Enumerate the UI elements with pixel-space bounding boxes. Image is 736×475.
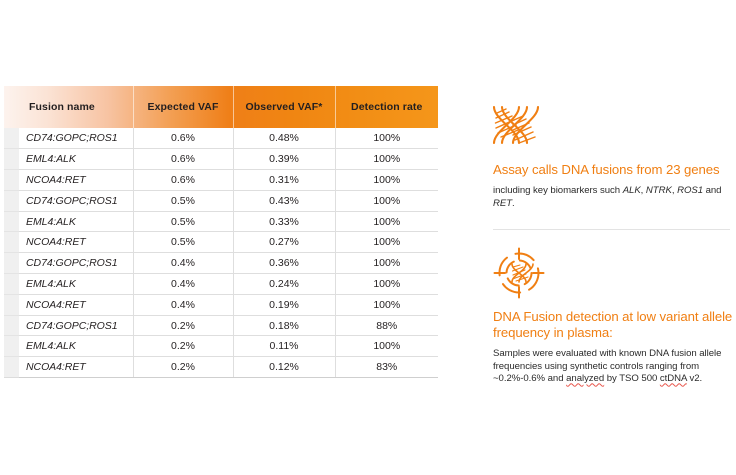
cell-expected-vaf: 0.2%: [133, 315, 233, 336]
panel-body-text: including key biomarkers such ALK, NTRK,…: [493, 185, 736, 210]
cell-detection-rate: 100%: [335, 294, 438, 315]
table-row: NCOA4:RET0.6%0.31%100%: [4, 170, 438, 191]
row-spacer-cell: [4, 211, 19, 232]
cell-expected-vaf: 0.5%: [133, 211, 233, 232]
panel-body-text: Samples were evaluated with known DNA fu…: [493, 348, 736, 386]
cell-fusion-name: EML4:ALK: [19, 211, 133, 232]
table-row: EML4:ALK0.4%0.24%100%: [4, 274, 438, 295]
cell-expected-vaf: 0.6%: [133, 149, 233, 170]
row-spacer-cell: [4, 274, 19, 295]
cell-observed-vaf: 0.12%: [233, 357, 335, 378]
cell-expected-vaf: 0.6%: [133, 128, 233, 149]
cell-fusion-name: CD74:GOPC;ROS1: [19, 253, 133, 274]
column-header-fusion-name: Fusion name: [19, 86, 133, 128]
table-row: NCOA4:RET0.2%0.12%83%: [4, 357, 438, 378]
table: Fusion name Expected VAF Observed VAF* D…: [4, 86, 438, 378]
cell-expected-vaf: 0.6%: [133, 170, 233, 191]
panel-heading: DNA Fusion detection at low variant alle…: [493, 309, 736, 341]
cell-expected-vaf: 0.2%: [133, 357, 233, 378]
cell-fusion-name: NCOA4:RET: [19, 232, 133, 253]
cell-observed-vaf: 0.39%: [233, 149, 335, 170]
cell-expected-vaf: 0.4%: [133, 274, 233, 295]
cell-detection-rate: 100%: [335, 253, 438, 274]
table-row: NCOA4:RET0.5%0.27%100%: [4, 232, 438, 253]
row-spacer-cell: [4, 232, 19, 253]
cell-observed-vaf: 0.24%: [233, 274, 335, 295]
cell-expected-vaf: 0.2%: [133, 336, 233, 357]
cell-detection-rate: 100%: [335, 190, 438, 211]
row-spacer-cell: [4, 357, 19, 378]
panel-divider: [493, 229, 730, 230]
cell-fusion-name: EML4:ALK: [19, 274, 133, 295]
cell-detection-rate: 100%: [335, 211, 438, 232]
cell-expected-vaf: 0.5%: [133, 190, 233, 211]
table-row: EML4:ALK0.6%0.39%100%: [4, 149, 438, 170]
cell-observed-vaf: 0.18%: [233, 315, 335, 336]
cell-detection-rate: 100%: [335, 170, 438, 191]
side-info-panels: Assay calls DNA fusions from 23 genes in…: [493, 100, 736, 386]
row-spacer-cell: [4, 149, 19, 170]
column-header-expected-vaf: Expected VAF: [133, 86, 233, 128]
cell-observed-vaf: 0.19%: [233, 294, 335, 315]
cell-observed-vaf: 0.33%: [233, 211, 335, 232]
cell-detection-rate: 88%: [335, 315, 438, 336]
cell-observed-vaf: 0.43%: [233, 190, 335, 211]
table-header: Fusion name Expected VAF Observed VAF* D…: [4, 86, 438, 128]
panel-heading: Assay calls DNA fusions from 23 genes: [493, 162, 736, 178]
cell-fusion-name: CD74:GOPC;ROS1: [19, 128, 133, 149]
cell-expected-vaf: 0.4%: [133, 294, 233, 315]
cell-fusion-name: NCOA4:RET: [19, 294, 133, 315]
cell-fusion-name: CD74:GOPC;ROS1: [19, 190, 133, 211]
table-header-row: Fusion name Expected VAF Observed VAF* D…: [4, 86, 438, 128]
cell-fusion-name: NCOA4:RET: [19, 357, 133, 378]
cell-observed-vaf: 0.36%: [233, 253, 335, 274]
table-row: CD74:GOPC;ROS10.4%0.36%100%: [4, 253, 438, 274]
panel-dna-fusion-genes: Assay calls DNA fusions from 23 genes in…: [493, 100, 736, 210]
table-row: NCOA4:RET0.4%0.19%100%: [4, 294, 438, 315]
table-body: CD74:GOPC;ROS10.6%0.48%100%EML4:ALK0.6%0…: [4, 128, 438, 378]
row-spacer-cell: [4, 315, 19, 336]
cell-fusion-name: CD74:GOPC;ROS1: [19, 315, 133, 336]
table-row: CD74:GOPC;ROS10.5%0.43%100%: [4, 190, 438, 211]
cell-detection-rate: 100%: [335, 274, 438, 295]
table-row: EML4:ALK0.5%0.33%100%: [4, 211, 438, 232]
table-row: EML4:ALK0.2%0.11%100%: [4, 336, 438, 357]
table-row: CD74:GOPC;ROS10.2%0.18%88%: [4, 315, 438, 336]
cell-observed-vaf: 0.31%: [233, 170, 335, 191]
cell-observed-vaf: 0.11%: [233, 336, 335, 357]
cell-detection-rate: 100%: [335, 128, 438, 149]
row-spacer-cell: [4, 170, 19, 191]
cell-detection-rate: 83%: [335, 357, 438, 378]
table-row: CD74:GOPC;ROS10.6%0.48%100%: [4, 128, 438, 149]
row-spacer-cell: [4, 253, 19, 274]
header-spacer-cell: [4, 86, 19, 128]
cell-fusion-name: NCOA4:RET: [19, 170, 133, 191]
column-header-detection-rate: Detection rate: [335, 86, 438, 128]
column-header-observed-vaf: Observed VAF*: [233, 86, 335, 128]
row-spacer-cell: [4, 336, 19, 357]
row-spacer-cell: [4, 190, 19, 211]
dna-helix-icon: [493, 100, 736, 150]
vaf-results-table: Fusion name Expected VAF Observed VAF* D…: [4, 86, 438, 378]
cell-fusion-name: EML4:ALK: [19, 336, 133, 357]
panel-low-vaf-detection: DNA Fusion detection at low variant alle…: [493, 247, 736, 386]
row-spacer-cell: [4, 294, 19, 315]
cell-detection-rate: 100%: [335, 149, 438, 170]
cell-expected-vaf: 0.4%: [133, 253, 233, 274]
row-spacer-cell: [4, 128, 19, 149]
cell-expected-vaf: 0.5%: [133, 232, 233, 253]
cell-detection-rate: 100%: [335, 232, 438, 253]
cell-observed-vaf: 0.27%: [233, 232, 335, 253]
cell-detection-rate: 100%: [335, 336, 438, 357]
dna-target-icon: [493, 247, 736, 297]
cell-observed-vaf: 0.48%: [233, 128, 335, 149]
cell-fusion-name: EML4:ALK: [19, 149, 133, 170]
